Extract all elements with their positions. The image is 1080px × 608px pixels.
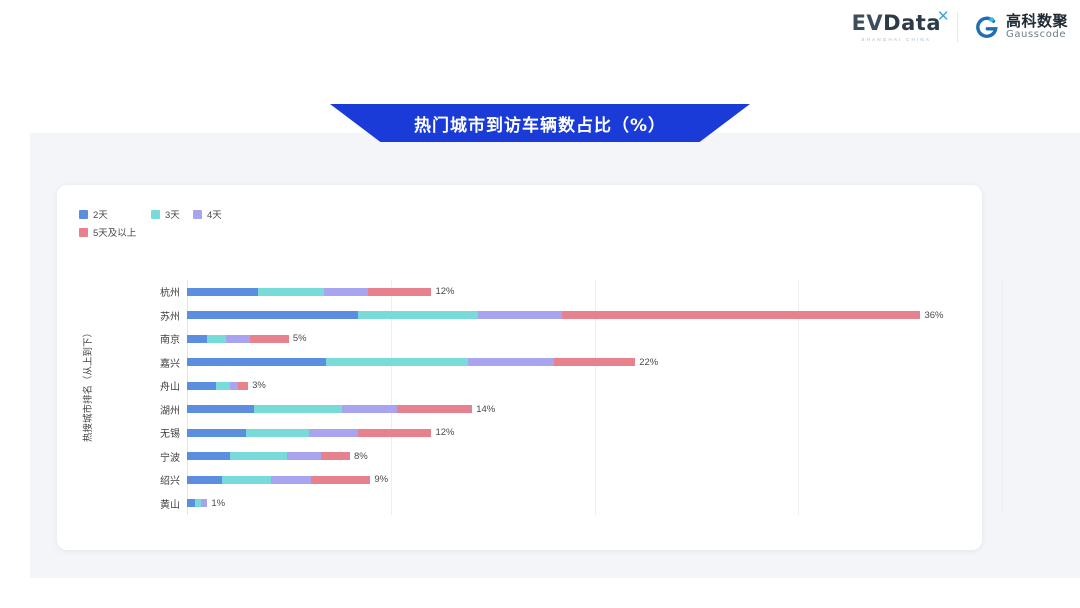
bar-value-label: 5% [293, 333, 307, 344]
y-axis-title: 热搜城市排名（从上到下） [79, 290, 95, 480]
stacked-bar-chart: 热搜城市排名（从上到下） 杭州12%苏州36%南京5%嘉兴22%舟山3%湖州14… [57, 185, 982, 550]
evdata-wordmark: EVData ✕ [852, 13, 941, 34]
stacked-bar[interactable] [187, 476, 370, 484]
bar-value-label: 12% [435, 427, 454, 438]
slide-page: EVData ✕ shanghai china 高科数聚 Gausscode [0, 0, 1080, 608]
bar-segment[interactable] [358, 311, 478, 319]
bar-row[interactable]: 嘉兴22% [102, 351, 962, 375]
stacked-bar[interactable] [187, 335, 289, 343]
stacked-bar[interactable] [187, 358, 635, 366]
gausscode-text: 高科数聚 Gausscode [1006, 14, 1068, 40]
bar-segment[interactable] [554, 358, 636, 366]
evdata-logo: EVData ✕ shanghai china [852, 13, 941, 42]
bar-segment[interactable] [187, 499, 195, 507]
bar-segment[interactable] [216, 382, 230, 390]
bar-rows: 杭州12%苏州36%南京5%嘉兴22%舟山3%湖州14%无锡12%宁波8%绍兴9… [102, 280, 962, 515]
bar-value-label: 3% [252, 380, 266, 391]
bar-value-label: 12% [435, 286, 454, 297]
bar-segment[interactable] [468, 358, 554, 366]
y-tick-label: 南京 [102, 331, 187, 346]
bar-value-label: 36% [924, 310, 943, 321]
bar-row[interactable]: 宁波8% [102, 445, 962, 469]
y-tick-label: 苏州 [102, 308, 187, 323]
bar-segment[interactable] [326, 358, 469, 366]
stacked-bar[interactable] [187, 499, 207, 507]
y-tick-label: 绍兴 [102, 472, 187, 487]
header-logo-bar: EVData ✕ shanghai china 高科数聚 Gausscode [0, 0, 1080, 60]
bar-segment[interactable] [187, 358, 326, 366]
bar-segment[interactable] [226, 335, 250, 343]
bar-segment[interactable] [230, 382, 238, 390]
bar-segment[interactable] [309, 429, 358, 437]
bar-segment[interactable] [246, 429, 309, 437]
bar-segment[interactable] [342, 405, 397, 413]
bar-segment[interactable] [258, 288, 323, 296]
bar-segment[interactable] [187, 335, 207, 343]
gridline-40 [1002, 280, 1003, 515]
gausscode-en: Gausscode [1006, 30, 1068, 41]
chart-card: 2天 3天 4天 5天及以上 热搜城市排名（从上到下） [57, 185, 982, 550]
stacked-bar[interactable] [187, 429, 431, 437]
gausscode-g-icon [974, 15, 999, 40]
bar-segment[interactable] [187, 311, 358, 319]
bar-segment[interactable] [187, 405, 254, 413]
y-tick-label: 舟山 [102, 378, 187, 393]
bar-row[interactable]: 绍兴9% [102, 468, 962, 492]
bar-row[interactable]: 湖州14% [102, 398, 962, 422]
evdata-wordmark-data: Data [883, 11, 941, 35]
bar-row[interactable]: 舟山3% [102, 374, 962, 398]
bar-segment[interactable] [321, 452, 350, 460]
bar-value-label: 22% [639, 357, 658, 368]
bar-segment[interactable] [478, 311, 562, 319]
bar-segment[interactable] [562, 311, 921, 319]
stacked-bar[interactable] [187, 288, 431, 296]
bar-value-label: 9% [374, 474, 388, 485]
stacked-bar[interactable] [187, 382, 248, 390]
evdata-wordmark-ev: EV [852, 11, 884, 35]
bar-row[interactable]: 苏州36% [102, 304, 962, 328]
bar-segment[interactable] [187, 382, 216, 390]
chart-title-banner: 热门城市到访车辆数占比（%） [330, 104, 750, 142]
gausscode-logo: 高科数聚 Gausscode [974, 14, 1068, 40]
bar-segment[interactable] [187, 476, 222, 484]
bar-segment[interactable] [238, 382, 248, 390]
logo-divider [957, 12, 958, 42]
bar-value-label: 1% [211, 498, 225, 509]
y-tick-label: 嘉兴 [102, 355, 187, 370]
bar-segment[interactable] [250, 335, 289, 343]
gausscode-cn: 高科数聚 [1006, 14, 1068, 30]
bar-row[interactable]: 南京5% [102, 327, 962, 351]
plot-area: 杭州12%苏州36%南京5%嘉兴22%舟山3%湖州14%无锡12%宁波8%绍兴9… [102, 280, 962, 515]
stacked-bar[interactable] [187, 311, 920, 319]
bar-segment[interactable] [187, 429, 246, 437]
y-tick-label: 黄山 [102, 496, 187, 511]
y-tick-label: 无锡 [102, 425, 187, 440]
bar-segment[interactable] [201, 499, 207, 507]
bar-segment[interactable] [254, 405, 342, 413]
bar-segment[interactable] [397, 405, 472, 413]
page-title: 热门城市到访车辆数占比（%） [414, 111, 666, 136]
bar-segment[interactable] [324, 288, 369, 296]
stacked-bar[interactable] [187, 405, 472, 413]
evdata-x-icon: ✕ [937, 9, 950, 24]
evdata-tagline: shanghai china [861, 37, 931, 42]
bar-segment[interactable] [271, 476, 312, 484]
bar-segment[interactable] [207, 335, 225, 343]
bar-row[interactable]: 无锡12% [102, 421, 962, 445]
bar-segment[interactable] [358, 429, 431, 437]
y-tick-label: 杭州 [102, 284, 187, 299]
bar-value-label: 14% [476, 404, 495, 415]
bar-row[interactable]: 杭州12% [102, 280, 962, 304]
brand-logos: EVData ✕ shanghai china 高科数聚 Gausscode [852, 12, 1068, 42]
y-axis-title-text: 热搜城市排名（从上到下） [80, 328, 94, 442]
bar-row[interactable]: 黄山1% [102, 492, 962, 516]
bar-segment[interactable] [187, 452, 230, 460]
y-tick-label: 宁波 [102, 449, 187, 464]
bar-segment[interactable] [368, 288, 431, 296]
bar-segment[interactable] [230, 452, 287, 460]
y-tick-label: 湖州 [102, 402, 187, 417]
bar-segment[interactable] [187, 288, 258, 296]
bar-segment[interactable] [222, 476, 271, 484]
bar-segment[interactable] [287, 452, 322, 460]
bar-segment[interactable] [311, 476, 370, 484]
stacked-bar[interactable] [187, 452, 350, 460]
bar-value-label: 8% [354, 451, 368, 462]
